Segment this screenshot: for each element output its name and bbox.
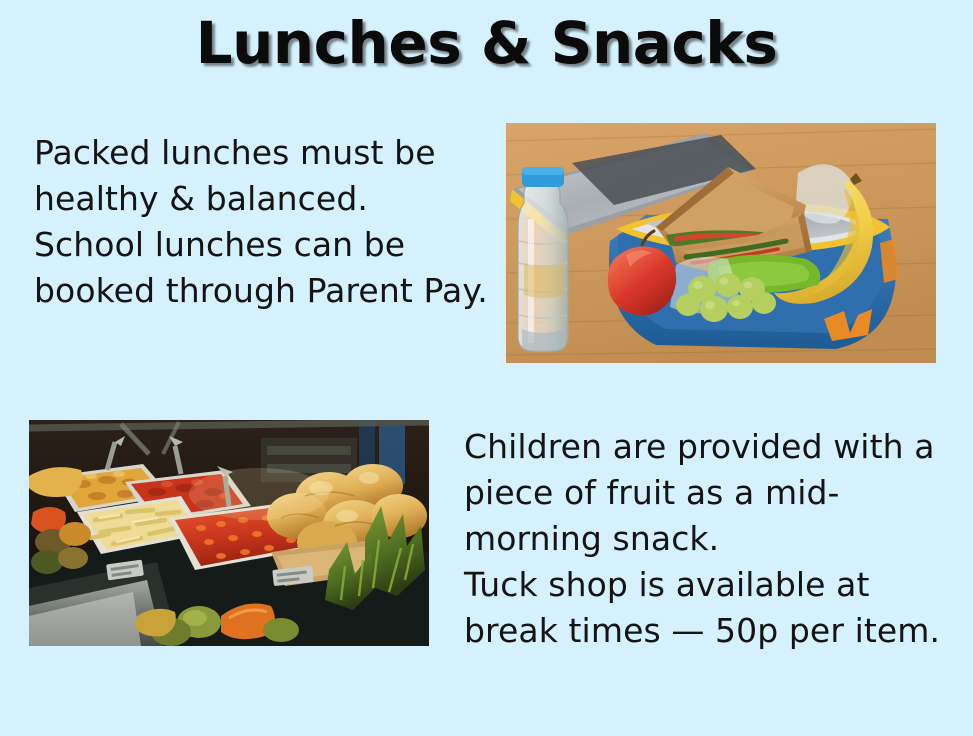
text-line: Tuck shop is available at bbox=[464, 562, 934, 608]
text-line: booked through Parent Pay. bbox=[34, 268, 479, 314]
text-line: School lunches can be bbox=[34, 222, 479, 268]
text-line: healthy & balanced. bbox=[34, 176, 479, 222]
slide-lunches-and-snacks: Lunches & Snacks Packed lunches must be … bbox=[0, 0, 973, 736]
lunchbox-illustration bbox=[506, 123, 936, 363]
text-line: morning snack. bbox=[464, 516, 934, 562]
page-title: Lunches & Snacks bbox=[0, 10, 973, 77]
snacks-text-block: Children are provided with a piece of fr… bbox=[464, 424, 934, 654]
lunchbox-photo bbox=[506, 123, 936, 363]
canteen-illustration bbox=[29, 420, 429, 646]
text-line: Packed lunches must be bbox=[34, 130, 479, 176]
text-line: piece of fruit as a mid- bbox=[464, 470, 934, 516]
text-line: Children are provided with a bbox=[464, 424, 934, 470]
canteen-photo bbox=[29, 420, 429, 646]
text-line: break times — 50p per item. bbox=[464, 608, 934, 654]
packed-lunch-text-block: Packed lunches must be healthy & balance… bbox=[34, 130, 479, 314]
